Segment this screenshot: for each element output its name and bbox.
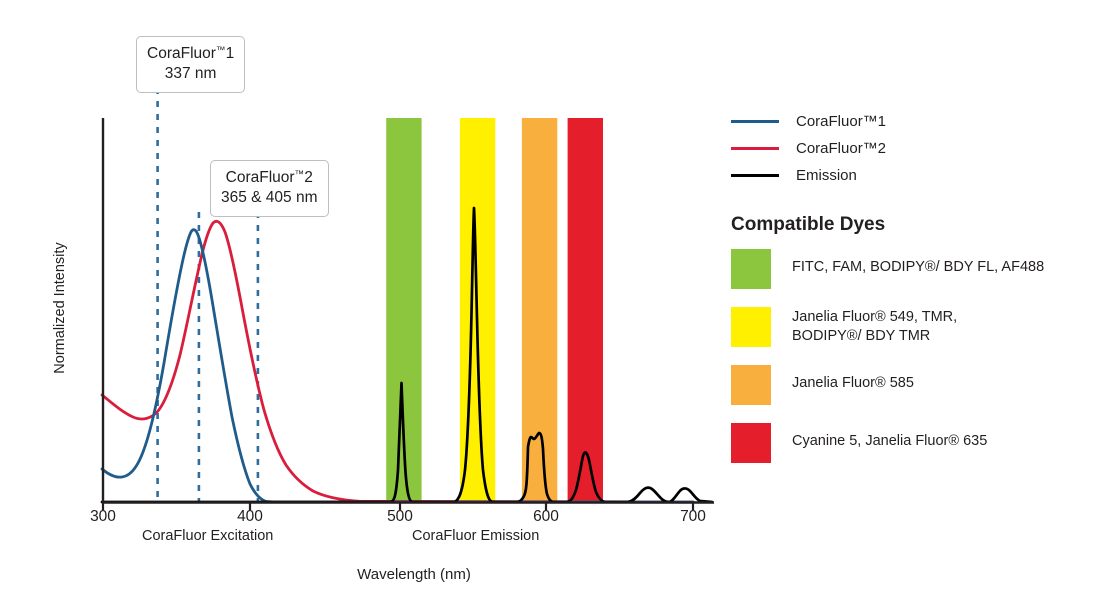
legend-series-label: CoraFluor™1 [796, 113, 886, 130]
dye-label-line: BODIPY®/ BDY TMR [792, 327, 957, 346]
dye-label-red: Cyanine 5, Janelia Fluor® 635 [792, 423, 987, 451]
callout-2-line1: CoraFluor™2 [221, 168, 318, 188]
compatible-dye-bands [386, 118, 603, 502]
x-tick-label-400: 400 [220, 508, 280, 526]
excitation-marker-lines [158, 88, 258, 502]
dye-label-orange: Janelia Fluor® 585 [792, 365, 914, 393]
dye-swatch-orange [731, 365, 771, 405]
spectra-figure: CoraFluor™1 337 nm CoraFluor™2 365 & 405… [0, 0, 1110, 612]
dye-label-line: Cyanine 5, Janelia Fluor® 635 [792, 432, 987, 451]
band-red [568, 118, 603, 502]
region-label-excitation: CoraFluor Excitation [142, 528, 273, 544]
x-axis-title: Wavelength (nm) [0, 566, 828, 583]
legend-series-corafluor-2: CoraFluor™2 [731, 135, 1101, 162]
dye-row-yellow: Janelia Fluor® 549, TMR, BODIPY®/ BDY TM… [731, 307, 1101, 347]
compatible-dyes-heading: Compatible Dyes [731, 214, 1101, 236]
legend-line-swatch-corafluor-2 [731, 147, 779, 150]
dye-swatch-red [731, 423, 771, 463]
dye-row-orange: Janelia Fluor® 585 [731, 365, 1101, 405]
trademark-symbol: ™ [216, 45, 226, 56]
trademark-symbol: ™ [295, 169, 305, 180]
dye-label-line: FITC, FAM, BODIPY®/ BDY FL, AF488 [792, 258, 1044, 277]
legend-series-label: CoraFluor™2 [796, 140, 886, 157]
dye-swatch-green [731, 249, 771, 289]
legend-line-swatch-emission [731, 174, 779, 177]
dye-row-green: FITC, FAM, BODIPY®/ BDY FL, AF488 [731, 249, 1101, 289]
legend-series-emission: Emission [731, 162, 1101, 189]
legend-line-swatch-corafluor-1 [731, 120, 779, 123]
dye-label-line: Janelia Fluor® 585 [792, 374, 914, 393]
x-tick-label-700: 700 [663, 508, 723, 526]
legend: CoraFluor™1 CoraFluor™2 Emission Compati… [731, 108, 1101, 477]
dye-swatch-yellow [731, 307, 771, 347]
dye-label-yellow: Janelia Fluor® 549, TMR, BODIPY®/ BDY TM… [792, 307, 957, 346]
x-tick-label-300: 300 [73, 508, 133, 526]
y-axis-title: Normalized Intensity [52, 208, 68, 408]
legend-series-corafluor-1: CoraFluor™1 [731, 108, 1101, 135]
x-tick-label-500: 500 [370, 508, 430, 526]
x-tick-label-600: 600 [516, 508, 576, 526]
dye-label-green: FITC, FAM, BODIPY®/ BDY FL, AF488 [792, 249, 1044, 277]
dye-label-line: Janelia Fluor® 549, TMR, [792, 308, 957, 327]
callout-1-line1: CoraFluor™1 [147, 44, 234, 64]
callout-corafluor-2: CoraFluor™2 365 & 405 nm [210, 160, 329, 217]
legend-series-label: Emission [796, 167, 857, 184]
callout-corafluor-1: CoraFluor™1 337 nm [136, 36, 245, 93]
dye-row-red: Cyanine 5, Janelia Fluor® 635 [731, 423, 1101, 463]
callout-2-line2: 365 & 405 nm [221, 188, 318, 208]
callout-1-line2: 337 nm [147, 64, 234, 84]
region-label-emission: CoraFluor Emission [412, 528, 539, 544]
